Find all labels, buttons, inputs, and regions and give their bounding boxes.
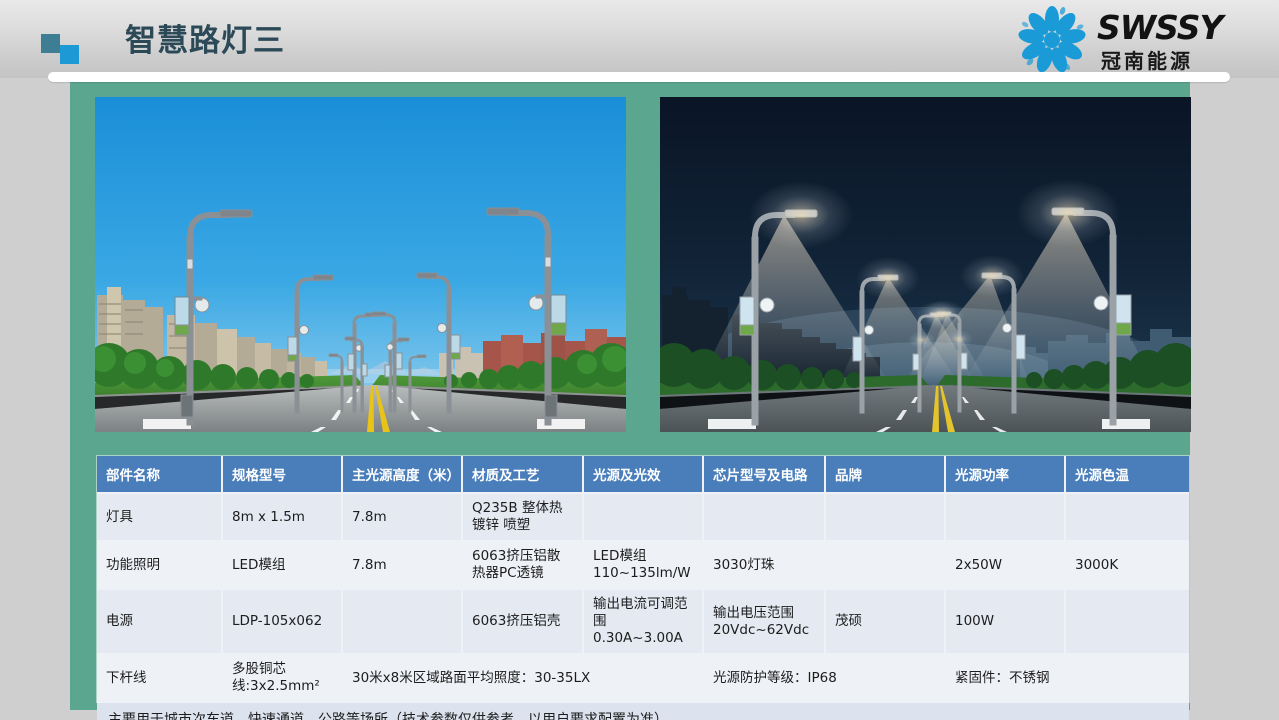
brand-name: SWSSY [1097, 8, 1222, 47]
table-header-row: 部件名称 规格型号 主光源高度（米） 材质及工艺 光源及光效 芯片型号及电路 品… [97, 456, 1189, 493]
cell-material: 6063挤压铝散热器PC透镜 [462, 541, 583, 589]
cell-cct [1065, 589, 1189, 654]
header-divider-bar [48, 72, 1230, 82]
slide: 智慧路灯三 [0, 0, 1279, 720]
page-title: 智慧路灯三 [125, 21, 285, 61]
col-header-lightsource[interactable]: 光源及光效 [583, 456, 703, 493]
col-header-chip[interactable]: 芯片型号及电路 [703, 456, 825, 493]
table-row: 功能照明 LED模组 7.8m 6063挤压铝散热器PC透镜 LED模组 110… [97, 541, 1189, 589]
table-row: 灯具 8m x 1.5m 7.8m Q235B 整体热镀锌 喷塑 [97, 493, 1189, 541]
cell-material: Q235B 整体热镀锌 喷塑 [462, 493, 583, 541]
cell-power: 100W [945, 589, 1065, 654]
cell-brand [825, 493, 945, 541]
col-header-power[interactable]: 光源功率 [945, 456, 1065, 493]
cell-part-name: 电源 [97, 589, 222, 654]
cell-height: 7.8m [342, 541, 462, 589]
cell-material: 6063挤压铝壳 [462, 589, 583, 654]
col-header-cct[interactable]: 光源色温 [1065, 456, 1189, 493]
col-header-brand[interactable]: 品牌 [825, 456, 945, 493]
table-footer-row: 主要用于城市次车道、快速通道、公路等场所（技术参数仅供参考，以用户要求配置为准） [97, 702, 1189, 720]
decoration-square-dark-icon [41, 34, 60, 53]
brand-name-cn: 冠南能源 [1101, 45, 1193, 74]
cell-cct [1065, 493, 1189, 541]
slide-header: 智慧路灯三 [0, 0, 1279, 78]
cell-model: 多股铜芯线:3x2.5mm² [222, 654, 342, 702]
image-nighttime-street-lamp [660, 97, 1191, 432]
cell-protection: 光源防护等级：IP68 [703, 654, 945, 702]
spec-table-container: 部件名称 规格型号 主光源高度（米） 材质及工艺 光源及光效 芯片型号及电路 品… [97, 456, 1189, 702]
cell-power: 2x50W [945, 541, 1065, 589]
cell-lightsource: LED模组 110~135lm/W [583, 541, 703, 589]
spec-table: 部件名称 规格型号 主光源高度（米） 材质及工艺 光源及光效 芯片型号及电路 品… [97, 456, 1189, 720]
swssy-flower-logo-icon [1009, 6, 1095, 74]
col-header-material[interactable]: 材质及工艺 [462, 456, 583, 493]
cell-brand [825, 541, 945, 589]
cell-model: LED模组 [222, 541, 342, 589]
cell-fastener: 紧固件：不锈钢 [945, 654, 1189, 702]
table-footer-note: 主要用于城市次车道、快速通道、公路等场所（技术参数仅供参考，以用户要求配置为准） [97, 702, 1189, 720]
col-header-height[interactable]: 主光源高度（米） [342, 456, 462, 493]
company-logo: SWSSY 冠南能源 [1009, 4, 1267, 76]
cell-part-name: 功能照明 [97, 541, 222, 589]
cell-part-name: 灯具 [97, 493, 222, 541]
cell-illuminance: 30米x8米区域路面平均照度：30-35LX [342, 654, 703, 702]
cell-cct: 3000K [1065, 541, 1189, 589]
cell-height [342, 589, 462, 654]
cell-part-name: 下杆线 [97, 654, 222, 702]
cell-chip: 3030灯珠 [703, 541, 825, 589]
cell-lightsource: 输出电流可调范围0.30A~3.00A [583, 589, 703, 654]
col-header-model[interactable]: 规格型号 [222, 456, 342, 493]
cell-chip: 输出电压范围20Vdc~62Vdc [703, 589, 825, 654]
cell-model: 8m x 1.5m [222, 493, 342, 541]
cell-height: 7.8m [342, 493, 462, 541]
cell-model: LDP-105x062 [222, 589, 342, 654]
table-row: 电源 LDP-105x062 6063挤压铝壳 输出电流可调范围0.30A~3.… [97, 589, 1189, 654]
cell-power [945, 493, 1065, 541]
cell-brand: 茂硕 [825, 589, 945, 654]
image-daytime-street-lamp [95, 97, 626, 432]
cell-lightsource [583, 493, 703, 541]
table-row: 下杆线 多股铜芯线:3x2.5mm² 30米x8米区域路面平均照度：30-35L… [97, 654, 1189, 702]
decoration-square-blue-icon [60, 45, 79, 64]
col-header-part-name[interactable]: 部件名称 [97, 456, 222, 493]
cell-chip [703, 493, 825, 541]
